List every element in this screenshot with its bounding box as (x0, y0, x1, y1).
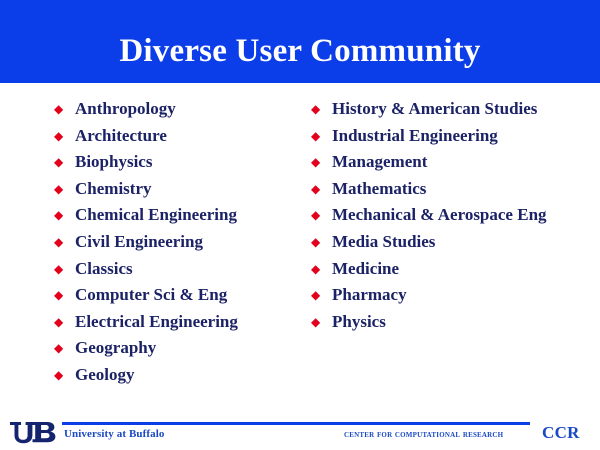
list-item: ◆ Industrial Engineering (309, 123, 599, 150)
list-item-label: Anthropology (75, 96, 176, 123)
department-list-right: ◆ History & American Studies ◆ Industria… (309, 96, 599, 335)
footer-center-name[interactable]: Center for Computational Research (344, 430, 503, 440)
list-item: ◆ Architecture (52, 123, 310, 150)
list-item: ◆ Geography (52, 335, 310, 362)
list-item-label: History & American Studies (332, 96, 537, 123)
list-item-label: Management (332, 149, 427, 176)
department-list-left: ◆ Anthropology ◆ Architecture ◆ Biophysi… (52, 96, 310, 389)
diamond-bullet-icon: ◆ (309, 229, 332, 256)
department-column-right: ◆ History & American Studies ◆ Industria… (309, 96, 599, 335)
slide-content: ◆ Anthropology ◆ Architecture ◆ Biophysi… (0, 96, 600, 396)
list-item: ◆ Mechanical & Aerospace Eng (309, 202, 599, 229)
list-item: ◆ Physics (309, 309, 599, 336)
list-item: ◆ Classics (52, 256, 310, 283)
list-item: ◆ Media Studies (309, 229, 599, 256)
list-item: ◆ Medicine (309, 256, 599, 283)
diamond-bullet-icon: ◆ (52, 229, 75, 256)
diamond-bullet-icon: ◆ (52, 202, 75, 229)
list-item: ◆ Management (309, 149, 599, 176)
diamond-bullet-icon: ◆ (309, 176, 332, 203)
list-item-label: Mathematics (332, 176, 426, 203)
list-item-label: Media Studies (332, 229, 435, 256)
diamond-bullet-icon: ◆ (52, 335, 75, 362)
list-item: ◆ Computer Sci & Eng (52, 282, 310, 309)
diamond-bullet-icon: ◆ (52, 362, 75, 389)
footer-university-label[interactable]: University at Buffalo (64, 428, 164, 440)
list-item-label: Biophysics (75, 149, 152, 176)
diamond-bullet-icon: ◆ (309, 149, 332, 176)
list-item: ◆ History & American Studies (309, 96, 599, 123)
diamond-bullet-icon: ◆ (309, 202, 332, 229)
list-item-label: Computer Sci & Eng (75, 282, 227, 309)
list-item: ◆ Chemical Engineering (52, 202, 310, 229)
diamond-bullet-icon: ◆ (52, 96, 75, 123)
list-item-label: Civil Engineering (75, 229, 203, 256)
diamond-bullet-icon: ◆ (52, 309, 75, 336)
footer-divider (62, 422, 530, 425)
list-item: ◆ Civil Engineering (52, 229, 310, 256)
diamond-bullet-icon: ◆ (52, 123, 75, 150)
diamond-bullet-icon: ◆ (52, 282, 75, 309)
list-item-label: Geology (75, 362, 135, 389)
list-item-label: Pharmacy (332, 282, 407, 309)
page-title: Diverse User Community (0, 0, 600, 83)
list-item-label: Classics (75, 256, 133, 283)
diamond-bullet-icon: ◆ (52, 256, 75, 283)
diamond-bullet-icon: ◆ (52, 176, 75, 203)
list-item: ◆ Biophysics (52, 149, 310, 176)
list-item: ◆ Anthropology (52, 96, 310, 123)
diamond-bullet-icon: ◆ (309, 282, 332, 309)
list-item-label: Chemical Engineering (75, 202, 237, 229)
department-column-left: ◆ Anthropology ◆ Architecture ◆ Biophysi… (52, 96, 310, 389)
list-item: ◆ Geology (52, 362, 310, 389)
diamond-bullet-icon: ◆ (309, 96, 332, 123)
list-item-label: Medicine (332, 256, 399, 283)
ub-logo-icon (9, 419, 57, 445)
diamond-bullet-icon: ◆ (52, 149, 75, 176)
list-item-label: Geography (75, 335, 156, 362)
list-item-label: Physics (332, 309, 386, 336)
diamond-bullet-icon: ◆ (309, 256, 332, 283)
list-item: ◆ Electrical Engineering (52, 309, 310, 336)
list-item: ◆ Pharmacy (309, 282, 599, 309)
list-item-label: Chemistry (75, 176, 151, 203)
list-item-label: Electrical Engineering (75, 309, 238, 336)
footer-center-abbr[interactable]: CCR (542, 423, 580, 443)
diamond-bullet-icon: ◆ (309, 309, 332, 336)
list-item: ◆ Mathematics (309, 176, 599, 203)
list-item-label: Mechanical & Aerospace Eng (332, 202, 547, 229)
list-item: ◆ Chemistry (52, 176, 310, 203)
diamond-bullet-icon: ◆ (309, 123, 332, 150)
list-item-label: Industrial Engineering (332, 123, 498, 150)
title-banner: Diverse User Community (0, 0, 600, 83)
list-item-label: Architecture (75, 123, 167, 150)
